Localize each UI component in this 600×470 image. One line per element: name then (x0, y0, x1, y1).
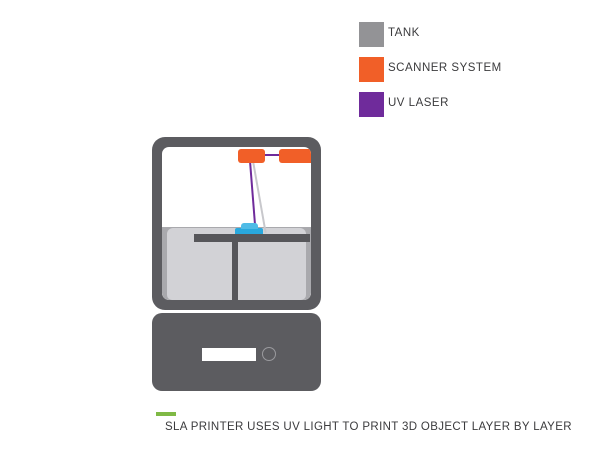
legend-label-uv-laser: UV LASER (388, 97, 449, 109)
printer-upper-body (152, 137, 321, 310)
output-slot (202, 348, 256, 361)
scanner-system-swatch (359, 57, 384, 82)
control-knob-icon (262, 347, 276, 361)
caption-dash (156, 412, 176, 416)
scanner-head-icon (238, 149, 265, 163)
uv-laser-swatch (359, 92, 384, 117)
scanner-housing-icon (279, 149, 311, 163)
printed-object-layer-top (241, 223, 258, 229)
legend-label-tank: TANK (388, 27, 420, 39)
build-platform-bar (194, 234, 310, 242)
caption-text: SLA PRINTER USES UV LIGHT TO PRINT 3D OB… (165, 421, 572, 433)
legend-label-scanner-system: SCANNER SYSTEM (388, 62, 502, 74)
build-platform-stem (232, 240, 238, 300)
printer-base (152, 313, 321, 391)
printer-chamber (162, 147, 311, 300)
tank-swatch (359, 22, 384, 47)
diagram-canvas: TANK SCANNER SYSTEM UV LASER (0, 0, 600, 470)
